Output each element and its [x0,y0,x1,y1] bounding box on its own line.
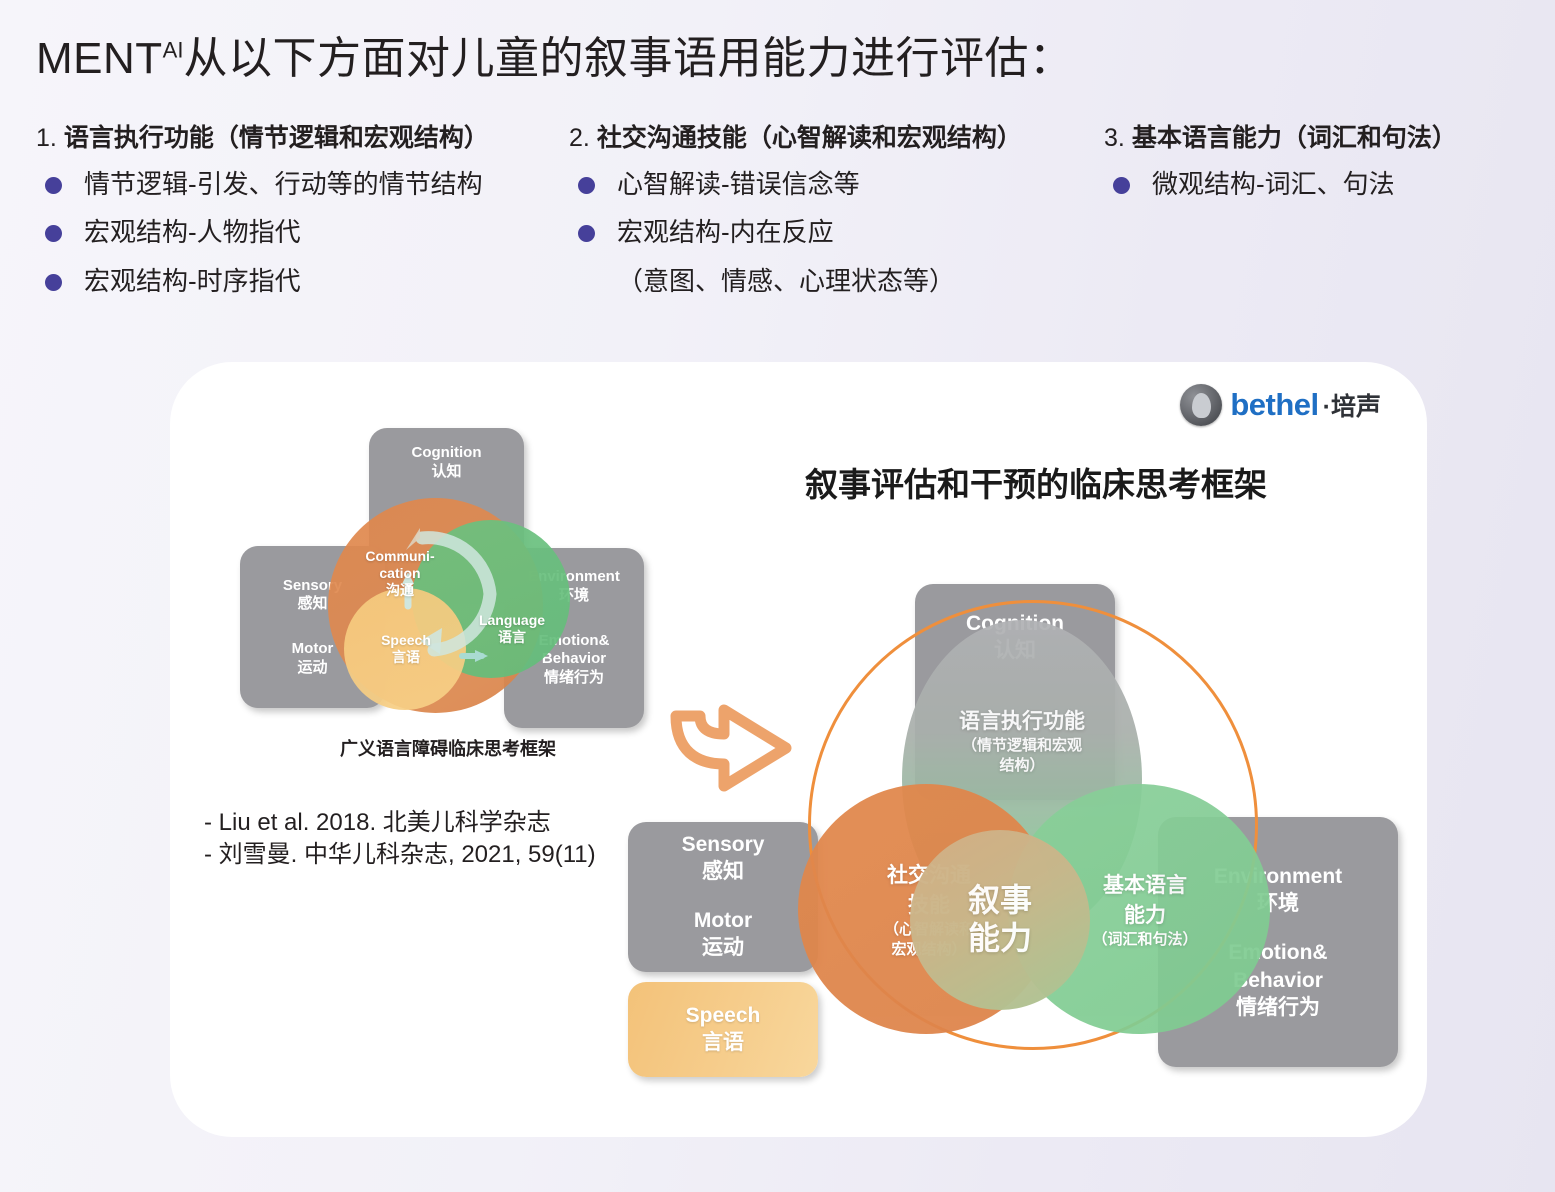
mini-language-label: Language 语言 [467,612,557,646]
column-1-title: 语言执行功能（情节逻辑和宏观结构） [64,124,489,152]
right-circle-title1: 基本语言 [1103,869,1187,899]
citation-block: - Liu et al. 2018. 北美儿科学杂志 - 刘雪曼. 中华儿科杂志… [204,807,596,870]
mini-language-en: Language [467,612,557,629]
narrative-ability-center-circle: 叙事 能力 [910,830,1090,1010]
mini-motor-en: Motor [292,640,334,659]
citation-line-2: - 刘雪曼. 中华儿科杂志, 2021, 59(11) [204,839,596,871]
column-1-heading: 1. 语言执行功能（情节逻辑和宏观结构） [36,118,576,154]
bullet-text: 宏观结构-人物指代 [84,216,301,249]
diagram-card: bethel ·培声 Cognition 认知 Sensory 感知 Motor… [170,362,1427,1137]
logo-brand-cn-text: ·培声 [1323,387,1381,423]
mini-motor-cn: 运动 [297,659,327,678]
citation-line-1: - Liu et al. 2018. 北美儿科学杂志 [204,807,596,839]
assessment-column-1: 1. 语言执行功能（情节逻辑和宏观结构） 情节逻辑-引发、行动等的情节结构 宏观… [36,118,576,313]
list-item: 宏观结构-时序指代 [36,265,576,298]
main-sensory-cn: 感知 [702,859,744,886]
list-item: 心智解读-错误信念等 [569,168,1109,201]
main-motor-cn: 运动 [702,935,744,962]
mini-sensory-cn: 感知 [297,595,327,614]
bullet-text: 情节逻辑-引发、行动等的情节结构 [84,168,483,201]
center-line-1: 叙事 [968,882,1032,920]
mini-emotion-cn: 情绪行为 [544,669,604,688]
mini-language-cn: 语言 [467,629,557,646]
column-3-bullet-list: 微观结构-词汇、句法 [1104,168,1534,201]
mini-communication-en: Communi-cation [350,548,450,582]
bullet-text: 宏观结构-时序指代 [84,265,301,298]
bullet-text: 微观结构-词汇、句法 [1152,168,1395,201]
assessment-column-2: 2. 社交沟通技能（心智解读和宏观结构） 心智解读-错误信念等 宏观结构-内在反… [569,118,1109,298]
center-line-2: 能力 [968,920,1032,958]
assessment-column-3: 3. 基本语言能力（词汇和句法） 微观结构-词汇、句法 [1104,118,1534,216]
mini-cognition-cn: 认知 [431,463,461,482]
column-2-sub-text: （意图、情感、心理状态等） [617,261,1109,298]
page-title-rest: 从以下方面对儿童的叙事语用能力进行评估： [183,34,1073,83]
right-circle-sub: （词汇和句法） [1092,931,1197,949]
bullet-dot-icon [1113,177,1130,194]
mini-communication-cn: 沟通 [350,582,450,599]
column-2-bullet-list: 心智解读-错误信念等 宏观结构-内在反应 [569,168,1109,250]
head-profile-icon [1180,384,1222,426]
main-speech-cn: 言语 [702,1030,744,1057]
mini-framework-caption: 广义语言障碍临床思考框架 [318,735,578,761]
mini-speech-label: Speech 言语 [365,632,447,666]
list-item: 宏观结构-内在反应 [569,216,1109,249]
main-motor-en: Motor [694,908,752,935]
top-circle-title: 语言执行功能 [959,705,1085,735]
page-title-prefix: MENT [36,34,163,83]
main-speech-en: Speech [686,1003,761,1030]
bullet-dot-icon [45,274,62,291]
main-framework-title: 叙事评估和干预的临床思考框架 [726,458,1346,506]
main-speech-box: Speech 言语 [628,982,818,1077]
mini-speech-en: Speech [365,632,447,649]
main-sensory-en: Sensory [682,832,765,859]
list-item: 情节逻辑-引发、行动等的情节结构 [36,168,576,201]
column-3-heading: 3. 基本语言能力（词汇和句法） [1104,118,1534,154]
main-emotion-cn: 情绪行为 [1236,994,1320,1021]
page-title-superscript: AI [163,37,184,62]
bullet-text: 心智解读-错误信念等 [617,168,860,201]
logo-brand-text: bethel [1230,387,1318,423]
mini-speech-cn: 言语 [365,649,447,666]
column-2-heading: 2. 社交沟通技能（心智解读和宏观结构） [569,118,1109,154]
bethel-logo: bethel ·培声 [1180,384,1381,426]
column-3-title: 基本语言能力（词汇和句法） [1132,124,1457,152]
bullet-dot-icon [578,177,595,194]
list-item: 微观结构-词汇、句法 [1104,168,1534,201]
top-circle-sub2: 结构） [999,757,1044,775]
mini-cognition-en: Cognition [412,444,482,463]
narrative-framework-diagram: Cognition 认知 Sensory 感知 Motor 运动 Speech … [610,562,1420,1137]
column-2-title: 社交沟通技能（心智解读和宏观结构） [597,124,1022,152]
bullet-text: 宏观结构-内在反应 [617,216,834,249]
column-2-number: 2. [569,124,590,152]
right-circle-title2: 能力 [1124,899,1166,929]
mini-behavior-en: Behavior [542,650,606,669]
mini-communication-label: Communi-cation 沟通 [350,548,450,598]
bullet-dot-icon [45,177,62,194]
page-title: MENTAI从以下方面对儿童的叙事语用能力进行评估： [36,22,1073,86]
column-1-bullet-list: 情节逻辑-引发、行动等的情节结构 宏观结构-人物指代 宏观结构-时序指代 [36,168,576,298]
list-item: 宏观结构-人物指代 [36,216,576,249]
bullet-dot-icon [45,225,62,242]
top-circle-sub1: （情节逻辑和宏观 [962,737,1082,755]
main-sensory-motor-box: Sensory 感知 Motor 运动 [628,822,818,972]
column-1-number: 1. [36,124,57,152]
bullet-dot-icon [578,225,595,242]
column-3-number: 3. [1104,124,1125,152]
broad-language-framework-diagram: Cognition 认知 Sensory 感知 Motor 运动 Environ… [232,420,662,770]
